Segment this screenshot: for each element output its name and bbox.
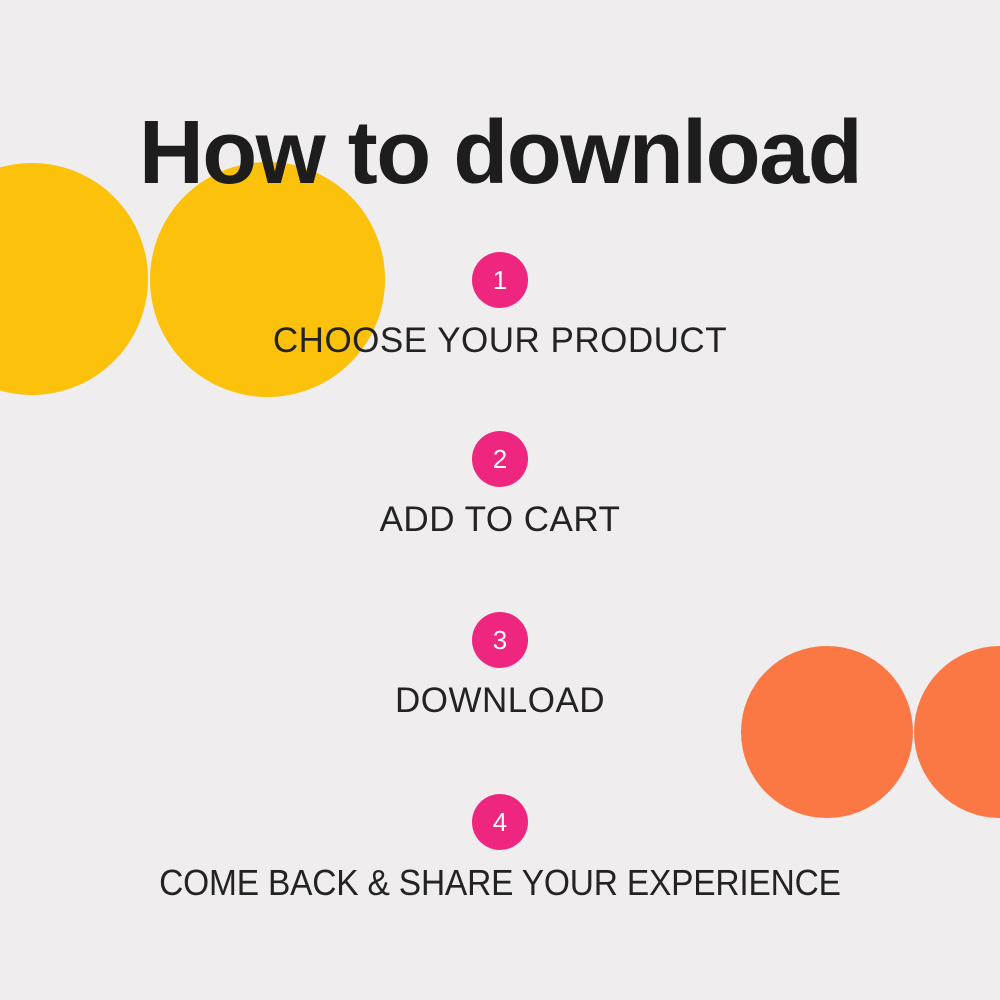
step-number-badge-1: 1 — [472, 252, 528, 308]
step-label-4: COME BACK & SHARE YOUR EXPERIENCE — [35, 861, 965, 905]
step-item-4: 4 COME BACK & SHARE YOUR EXPERIENCE — [0, 794, 1000, 905]
how-to-download-graphic: How to download 1 CHOOSE YOUR PRODUCT 2 … — [0, 0, 1000, 1000]
step-item-3: 3 DOWNLOAD — [0, 612, 1000, 723]
page-title: How to download — [0, 108, 1000, 198]
step-label-2: ADD TO CART — [0, 498, 1000, 542]
step-label-3: DOWNLOAD — [0, 679, 1000, 723]
step-number-badge-4: 4 — [472, 794, 528, 850]
step-item-2: 2 ADD TO CART — [0, 431, 1000, 542]
step-label-1: CHOOSE YOUR PRODUCT — [0, 319, 1000, 363]
step-item-1: 1 CHOOSE YOUR PRODUCT — [0, 252, 1000, 363]
step-number-badge-2: 2 — [472, 431, 528, 487]
step-number-badge-3: 3 — [472, 612, 528, 668]
